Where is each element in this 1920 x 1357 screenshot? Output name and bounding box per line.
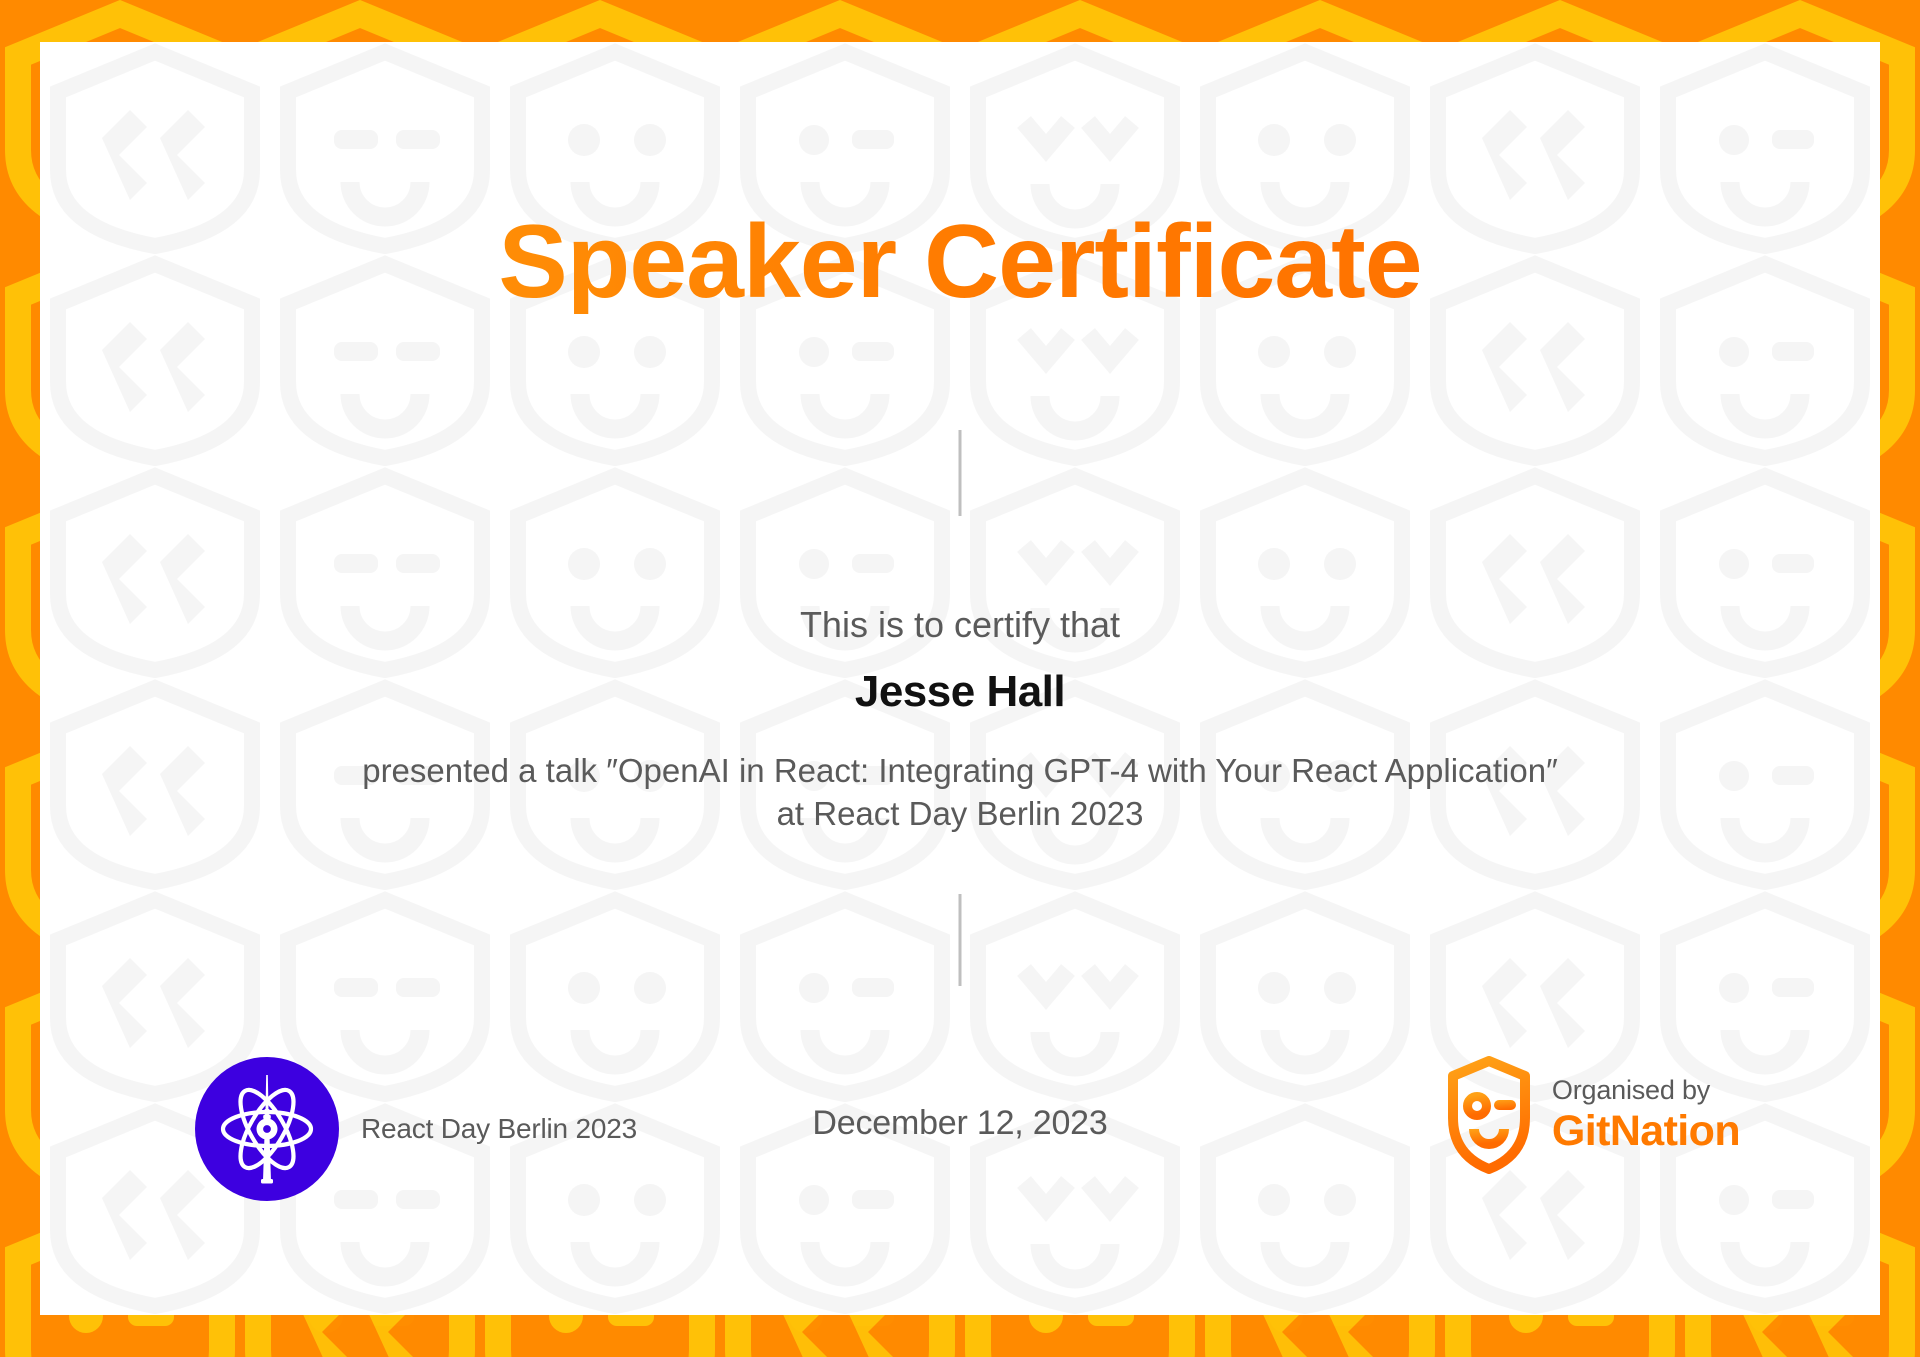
organised-by-label: Organised by <box>1552 1074 1740 1107</box>
page-title: Speaker Certificate <box>40 210 1880 314</box>
certificate-card: Speaker Certificate This is to certify t… <box>40 42 1880 1315</box>
talk-event-line: at React Day Berlin 2023 <box>160 793 1760 836</box>
organiser-text: Organised by GitNation <box>1552 1074 1740 1155</box>
gitnation-shield-mask-icon <box>1446 1056 1532 1174</box>
organiser-name: GitNation <box>1552 1107 1740 1155</box>
certify-line: This is to certify that <box>40 604 1880 646</box>
certificate-footer: React Day Berlin 2023 December 12, 2023 <box>40 1042 1880 1222</box>
divider-top <box>959 430 962 516</box>
certificate: Speaker Certificate This is to certify t… <box>0 0 1920 1357</box>
recipient-name: Jesse Hall <box>40 667 1880 717</box>
divider-bottom <box>959 894 962 986</box>
card-content: Speaker Certificate This is to certify t… <box>40 42 1880 1315</box>
organiser-block: Organised by GitNation <box>1446 1056 1740 1174</box>
talk-description: presented a talk ″OpenAI in React: Integ… <box>160 750 1760 836</box>
talk-title-line: presented a talk ″OpenAI in React: Integ… <box>160 750 1760 793</box>
